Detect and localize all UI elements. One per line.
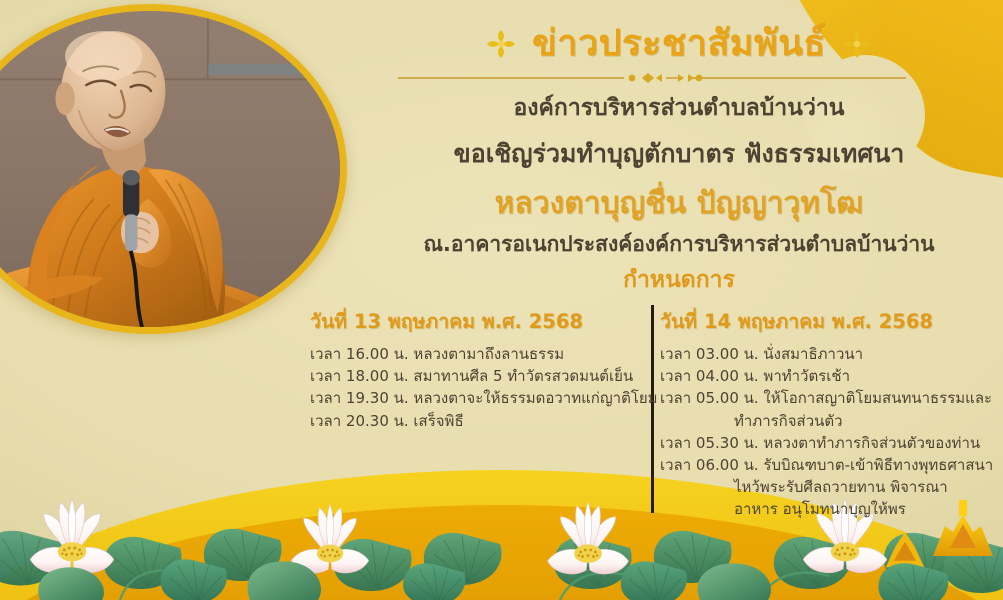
- monk-portrait: [0, 4, 347, 334]
- list-item-continuation: ทำภารกิจส่วนตัว: [660, 410, 994, 432]
- list-item-continuation: อาหาร อนุโมทนาบุญให้พร: [660, 498, 994, 520]
- invitation-text: ขอเชิญร่วมทำบุญตักบาตร ฟังธรรมเทศนา: [355, 134, 1003, 174]
- poster-root: ข่าวประชาสัมพันธ์ องค์การบริหารส่วนตำบลบ…: [0, 0, 1003, 600]
- ornamental-divider-icon: [392, 70, 912, 86]
- schedule-column-day2: วันที่ 14 พฤษภาคม พ.ศ. 2568 เวลา 03.00 น…: [646, 306, 1000, 521]
- day1-date-header: วันที่ 13 พฤษภาคม พ.ศ. 2568: [300, 306, 640, 337]
- list-item-continuation: ไหว้พระรับศีลถวายทาน พิจารณา: [660, 476, 994, 498]
- schedule-section: วันที่ 13 พฤษภาคม พ.ศ. 2568 เวลา 16.00 น…: [300, 306, 1000, 521]
- list-item: เวลา 20.30 น. เสร็จพิธี: [300, 410, 640, 432]
- list-item: เวลา 18.00 น. สมาทานศีล 5 ทำวัตรสวดมนต์เ…: [300, 365, 640, 387]
- page-title-row: ข่าวประชาสัมพันธ์: [355, 24, 1003, 64]
- organization-name: องค์การบริหารส่วนตำบลบ้านว่าน: [355, 90, 1003, 126]
- monk-portrait-image: [0, 11, 340, 327]
- schedule-label: กำหนดการ: [355, 262, 1003, 298]
- page-title: ข่าวประชาสัมพันธ์: [532, 24, 826, 64]
- schedule-column-day1: วันที่ 13 พฤษภาคม พ.ศ. 2568 เวลา 16.00 น…: [300, 306, 646, 521]
- list-item: เวลา 05.00 น. ให้โอกาสญาติโยมสนทนาธรรมแล…: [660, 387, 994, 409]
- list-item: เวลา 19.30 น. หลวงตาจะให้ธรรมดอวาทแก่ญาต…: [300, 387, 640, 409]
- flower-gem-left-icon: [486, 29, 516, 59]
- list-item: เวลา 03.00 น. นั่งสมาธิภาวนา: [660, 343, 994, 365]
- list-item: เวลา 05.30 น. หลวงตาทำภารกิจส่วนตัวของท่…: [660, 432, 994, 454]
- day2-date-header: วันที่ 14 พฤษภาคม พ.ศ. 2568: [660, 306, 994, 337]
- monk-name: หลวงตาบุญชื่น ปัญญาวุทโฒ: [355, 180, 1003, 227]
- flower-gem-right-icon: [842, 29, 872, 59]
- list-item: เวลา 16.00 น. หลวงตามาถึงลานธรรม: [300, 343, 640, 365]
- list-item: เวลา 04.00 น. พาทำวัตรเช้า: [660, 365, 994, 387]
- venue-text: ณ.อาคารอเนกประสงค์องค์การบริหารส่วนตำบลบ…: [355, 228, 1003, 261]
- list-item: เวลา 06.00 น. รับบิณฑบาต-เข้าพิธีทางพุทธ…: [660, 454, 994, 476]
